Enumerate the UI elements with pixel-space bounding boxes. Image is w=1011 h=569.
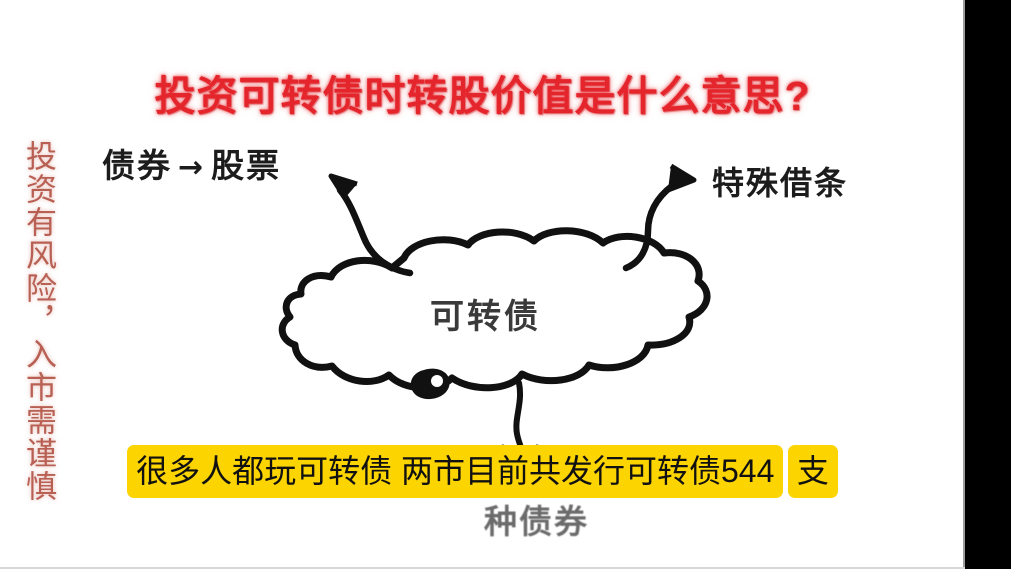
cloud-tail-blob bbox=[411, 369, 450, 399]
label-stock: 股票 bbox=[211, 146, 281, 185]
caption-line-1: 很多人都玩可转债 两市目前共发行可转债544 bbox=[127, 445, 783, 498]
arrow-to-stock-head bbox=[331, 176, 357, 198]
arrow-to-special-iou-head bbox=[668, 166, 694, 190]
label-convertible-bond: 可转债 bbox=[430, 289, 541, 338]
page-title: 投资可转债时转股价值是什么意思? bbox=[0, 62, 965, 122]
cloud-tail-highlight bbox=[431, 375, 443, 387]
letterbox-right-bar bbox=[965, 0, 1011, 569]
caption-block: 很多人都玩可转债 两市目前共发行可转债544 支 bbox=[0, 444, 965, 498]
vertical-risk-slogan: 投资有风险，入市需谨慎 bbox=[12, 140, 54, 503]
label-bond-to-stock: 债券→股票 bbox=[102, 139, 281, 187]
slide-canvas: 债券→股票 特殊借条 种债券 可转债 很多人都玩可转债 两市目前共发行可转债54… bbox=[0, 0, 1011, 569]
right-arrow-icon: → bbox=[172, 150, 211, 185]
caption-line-2: 支 bbox=[788, 445, 838, 498]
label-bond-kind-background: 种债券 bbox=[484, 495, 589, 543]
label-special-iou: 特殊借条 bbox=[712, 158, 848, 204]
label-bond: 债券 bbox=[102, 146, 172, 185]
